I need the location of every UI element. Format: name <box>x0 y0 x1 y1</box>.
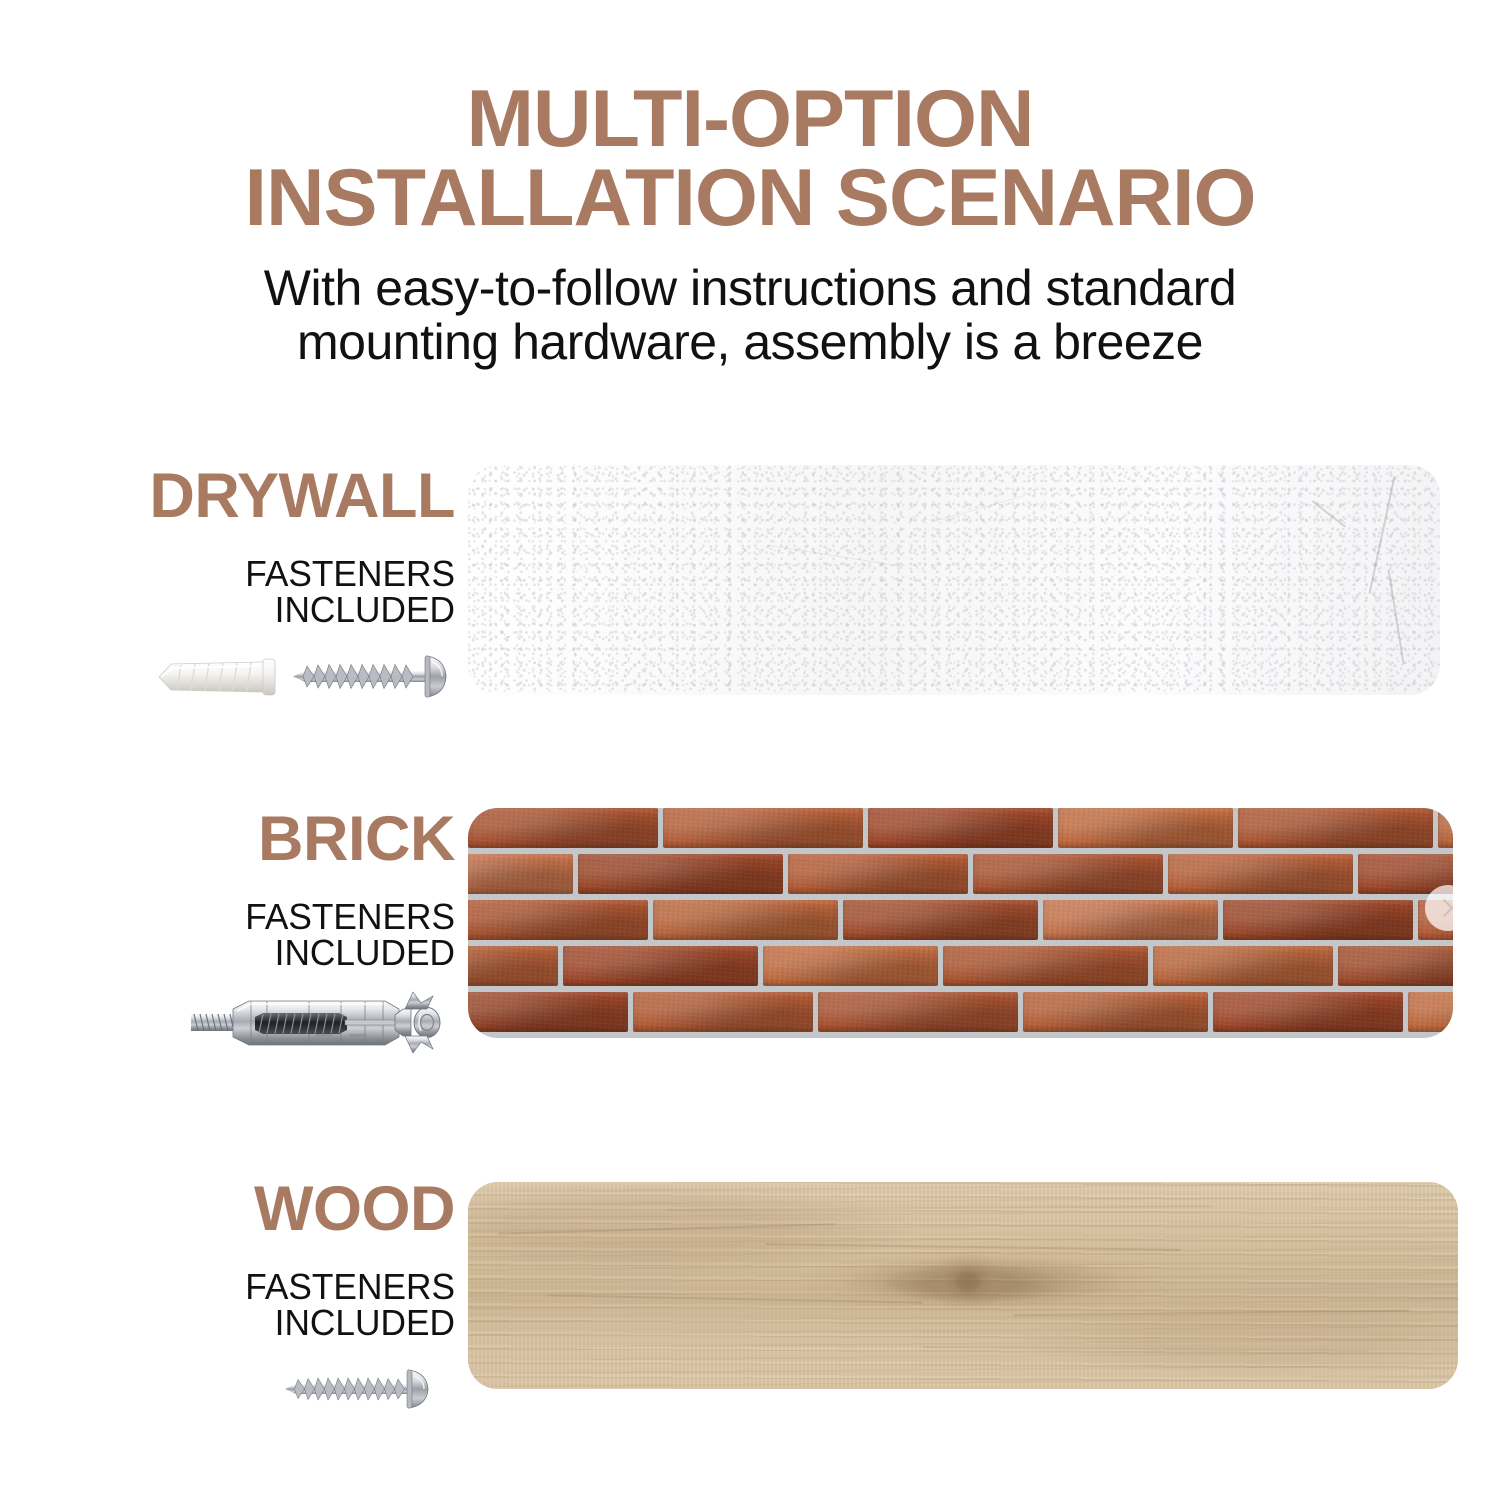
wood-grain-streak <box>923 1346 1368 1351</box>
brick-unit <box>973 854 1163 894</box>
pan-head-screw-icon <box>285 1370 428 1408</box>
section-drywall: DRYWALL FASTENERS INCLUDED <box>0 465 1500 710</box>
drywall-fastener-icons <box>60 646 455 716</box>
brick-unit <box>563 946 758 986</box>
brick-unit <box>1153 946 1333 986</box>
drywall-label: DRYWALL <box>60 465 455 528</box>
brick-texture <box>468 808 1453 1038</box>
page-subtitle-line-1: With easy-to-follow instructions and sta… <box>110 261 1390 315</box>
page-title-line-2: INSTALLATION SCENARIO <box>120 159 1380 238</box>
wood-grain-streak <box>547 1294 923 1303</box>
brick-unit <box>468 854 573 894</box>
brick-row <box>468 992 1418 1032</box>
drywall-crack <box>769 545 898 567</box>
plastic-wall-anchor-icon <box>159 659 275 695</box>
brick-row <box>468 900 1433 940</box>
drywall-fasteners-included-label: FASTENERS INCLUDED <box>68 556 455 628</box>
molly-threaded-tip <box>191 1014 233 1031</box>
brick-unit <box>1223 900 1413 940</box>
page-title-line-1: MULTI-OPTION <box>467 74 1034 164</box>
section-brick: BRICK FASTENERS INCLUDED <box>0 808 1500 1053</box>
brick-unit <box>788 854 968 894</box>
wood-screw-group <box>285 1365 455 1413</box>
brick-unit <box>943 946 1148 986</box>
drywall-crack <box>1312 500 1346 527</box>
brick-unit <box>468 992 628 1032</box>
brick-unit <box>468 900 648 940</box>
brick-unit <box>653 900 838 940</box>
wood-label: WOOD <box>60 1178 455 1241</box>
page-subtitle: With easy-to-follow instructions and sta… <box>0 261 1500 369</box>
brick-unit <box>818 992 1018 1032</box>
brick-unit <box>1408 992 1453 1032</box>
brick-unit <box>663 808 863 848</box>
brick-row <box>468 946 1358 986</box>
page-subtitle-line-2: mounting hardware, assembly is a breeze <box>110 315 1390 369</box>
brick-row <box>468 808 1453 848</box>
wood-texture <box>468 1182 1458 1389</box>
brick-unit <box>1438 808 1453 848</box>
molly-head <box>395 992 440 1053</box>
brick-unit <box>1213 992 1403 1032</box>
brick-unit <box>578 854 783 894</box>
brick-unit <box>633 992 813 1032</box>
header-block: MULTI-OPTION INSTALLATION SCENARIO With … <box>0 80 1500 369</box>
wood-grain-streak <box>498 1223 835 1234</box>
brick-unit <box>1338 946 1453 986</box>
page-title: MULTI-OPTION INSTALLATION SCENARIO <box>0 80 1500 237</box>
wood-grain-streak <box>666 1205 1210 1210</box>
drywall-fastener-group <box>155 650 455 704</box>
brick-label: BRICK <box>60 808 455 871</box>
wood-text-column: WOOD FASTENERS INCLUDED <box>60 1178 455 1429</box>
brick-text-column: BRICK FASTENERS INCLUDED <box>60 808 455 1059</box>
carousel-next-button[interactable] <box>1425 885 1471 931</box>
drywall-texture <box>468 465 1440 695</box>
drywall-text-column: DRYWALL FASTENERS INCLUDED <box>60 465 455 716</box>
chevron-right-icon <box>1437 897 1459 919</box>
wood-grain-streak <box>765 1243 1181 1250</box>
drywall-crack <box>1387 569 1403 663</box>
section-wood: WOOD FASTENERS INCLUDED <box>0 1178 1500 1423</box>
brick-unit <box>1043 900 1218 940</box>
brick-unit <box>1238 808 1433 848</box>
wood-fastener-icons <box>60 1359 455 1429</box>
wood-surface-panel <box>468 1182 1458 1389</box>
wood-knot <box>933 1252 1003 1310</box>
brick-unit <box>1168 854 1353 894</box>
drywall-crack <box>1368 476 1394 594</box>
drywall-surface-panel <box>468 465 1440 695</box>
wood-fasteners-included-label: FASTENERS INCLUDED <box>68 1269 455 1341</box>
drywall-crack <box>940 495 1027 521</box>
brick-unit <box>468 808 658 848</box>
brick-unit <box>1023 992 1208 1032</box>
brick-fastener-icons <box>60 989 455 1059</box>
metal-molly-bolt-anchor-icon <box>189 987 457 1059</box>
brick-row <box>468 854 1383 894</box>
brick-fasteners-included-label: FASTENERS INCLUDED <box>68 899 455 971</box>
brick-unit <box>868 808 1053 848</box>
pan-head-screw-icon <box>293 656 446 697</box>
wood-grain-streak <box>1013 1310 1409 1316</box>
brick-surface-panel <box>468 808 1453 1038</box>
brick-unit <box>843 900 1038 940</box>
brick-unit <box>1058 808 1233 848</box>
brick-unit <box>763 946 938 986</box>
molly-spring-coil <box>255 1013 347 1034</box>
brick-unit <box>468 946 558 986</box>
